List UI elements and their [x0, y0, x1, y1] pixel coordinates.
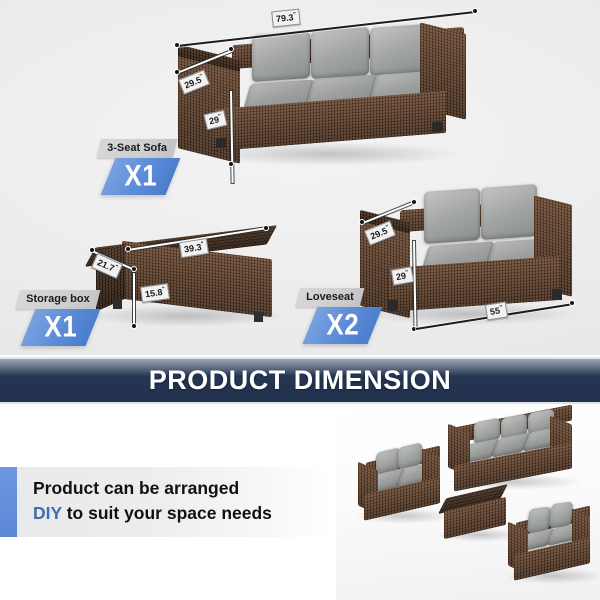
storagebox-quantity-badge: X1 [21, 309, 101, 346]
sofa-quantity-badge: X1 [101, 158, 181, 195]
sofa-width-dot-left [174, 42, 180, 48]
arrangement-message: Product can be arranged DIY to suit your… [33, 476, 323, 526]
dimension-panel: 79.3" 29.5" 29" 3-Seat Sofa X1 [0, 0, 600, 355]
loveseat-leg-right [552, 289, 562, 300]
loveseat-width-dot-right [569, 300, 575, 306]
sofa-width-label: 79.3" [271, 9, 301, 28]
arrangement-section: Product can be arranged DIY to suit your… [0, 404, 600, 600]
sofa-leg-right [432, 122, 442, 133]
sofa-name-plate: 3-Seat Sofa [97, 139, 178, 158]
product-dimension-banner: PRODUCT DIMENSION [0, 357, 600, 404]
banner-title: PRODUCT DIMENSION [149, 365, 452, 396]
loveseat-quantity-badge: X2 [303, 307, 383, 344]
scene-storagebox-shadow [436, 528, 522, 542]
storagebox-depth-dot-top [89, 247, 95, 253]
message-line-1: Product can be arranged [33, 478, 239, 498]
sofa-depth-dot-top [174, 69, 180, 75]
loveseat-back-cushion-2 [481, 184, 537, 240]
storagebox-width-dot-left [125, 246, 131, 252]
storagebox-shadow [86, 305, 286, 327]
message-accent-bar [0, 467, 17, 537]
loveseat-width-label: 55" [485, 301, 508, 320]
arrangement-scene [336, 404, 600, 600]
diy-highlight: DIY [33, 503, 62, 523]
storagebox-height-dim-line [133, 273, 135, 327]
storagebox-width-dot-right [263, 225, 269, 231]
sofa-width-dot-right [472, 8, 478, 14]
scene-sofa-shadow [444, 474, 584, 490]
message-line-2: to suit your space needs [62, 503, 272, 523]
loveseat-depth-dot-top [359, 219, 365, 225]
sofa-depth-dot-bottom [228, 46, 234, 52]
loveseat-back-cushion-1 [424, 188, 480, 244]
sofa-back-cushion-1 [252, 31, 310, 82]
sofa-shadow [200, 142, 460, 166]
product-dimension-infographic: 79.3" 29.5" 29" 3-Seat Sofa X1 [0, 0, 600, 600]
sofa-back-cushion-3 [370, 24, 426, 76]
sofa-back-cushion-2 [311, 27, 369, 79]
storagebox-height-dot-bottom [131, 323, 137, 329]
sofa-height-dot-bottom [228, 161, 234, 167]
storagebox-name-plate: Storage box [16, 290, 100, 309]
loveseat-name-plate: Loveseat [296, 288, 364, 307]
storagebox-depth-dot-bottom [131, 266, 137, 272]
scene-loveseat2-shadow [504, 568, 600, 584]
loveseat-depth-dot-bottom [411, 199, 417, 205]
